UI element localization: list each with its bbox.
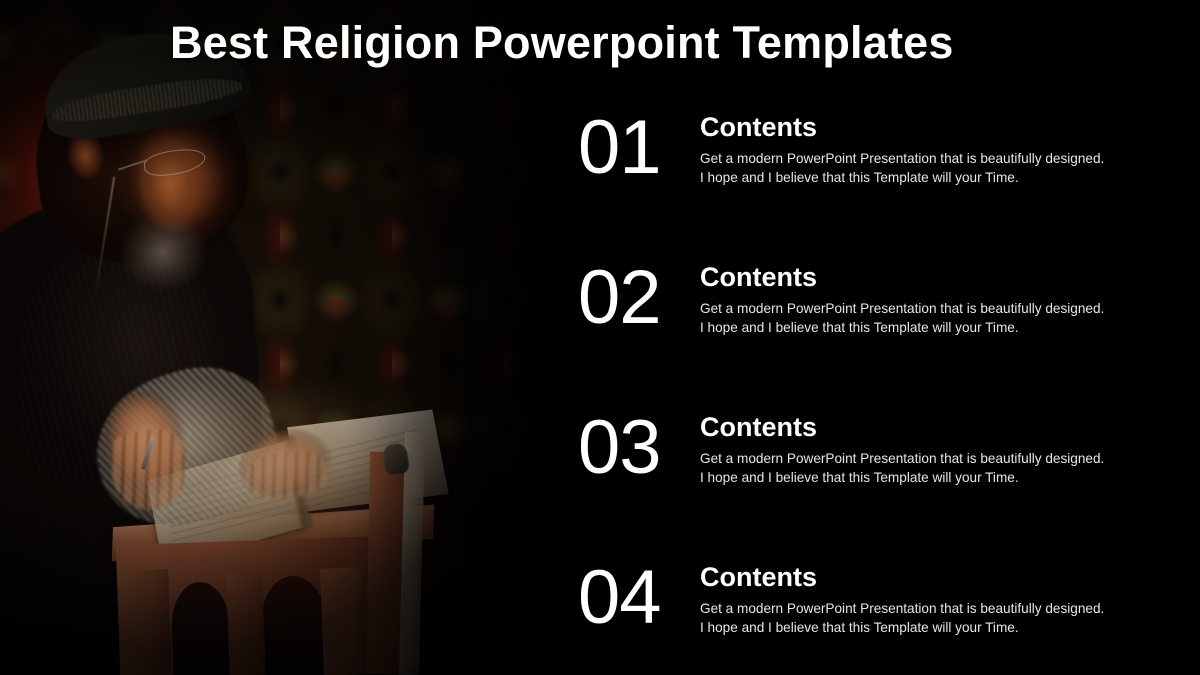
item-text-block-03: Contents Get a modern PowerPoint Present… <box>700 412 1170 488</box>
content-item-01[interactable]: 01 Contents Get a modern PowerPoint Pres… <box>578 110 1178 240</box>
item-heading-01: Contents <box>700 112 1170 143</box>
item-description-04: Get a modern PowerPoint Presentation tha… <box>700 599 1170 638</box>
lectern-post-left <box>118 569 172 675</box>
item-text-block-01: Contents Get a modern PowerPoint Present… <box>700 112 1170 188</box>
item-text-block-04: Contents Get a modern PowerPoint Present… <box>700 562 1170 638</box>
item-number-03: 03 <box>578 410 678 486</box>
lectern-post-middle <box>226 573 266 675</box>
presentation-slide: Best Religion Powerpoint Templates 01 Co… <box>0 0 1200 675</box>
slide-title: Best Religion Powerpoint Templates <box>170 17 954 69</box>
content-item-02[interactable]: 02 Contents Get a modern PowerPoint Pres… <box>578 260 1178 390</box>
item-description-03: Get a modern PowerPoint Presentation tha… <box>700 449 1170 488</box>
item-heading-04: Contents <box>700 562 1170 593</box>
item-description-02: Get a modern PowerPoint Presentation tha… <box>700 299 1170 338</box>
item-number-01: 01 <box>578 110 678 186</box>
item-number-04: 04 <box>578 560 678 636</box>
item-heading-02: Contents <box>700 262 1170 293</box>
content-item-03[interactable]: 03 Contents Get a modern PowerPoint Pres… <box>578 410 1178 540</box>
background-photo <box>0 0 600 675</box>
item-heading-03: Contents <box>700 412 1170 443</box>
item-description-01: Get a modern PowerPoint Presentation tha… <box>700 149 1170 188</box>
lectern-post-right <box>320 567 366 675</box>
item-number-02: 02 <box>578 260 678 336</box>
item-text-block-02: Contents Get a modern PowerPoint Present… <box>700 262 1170 338</box>
content-item-04[interactable]: 04 Contents Get a modern PowerPoint Pres… <box>578 560 1178 675</box>
